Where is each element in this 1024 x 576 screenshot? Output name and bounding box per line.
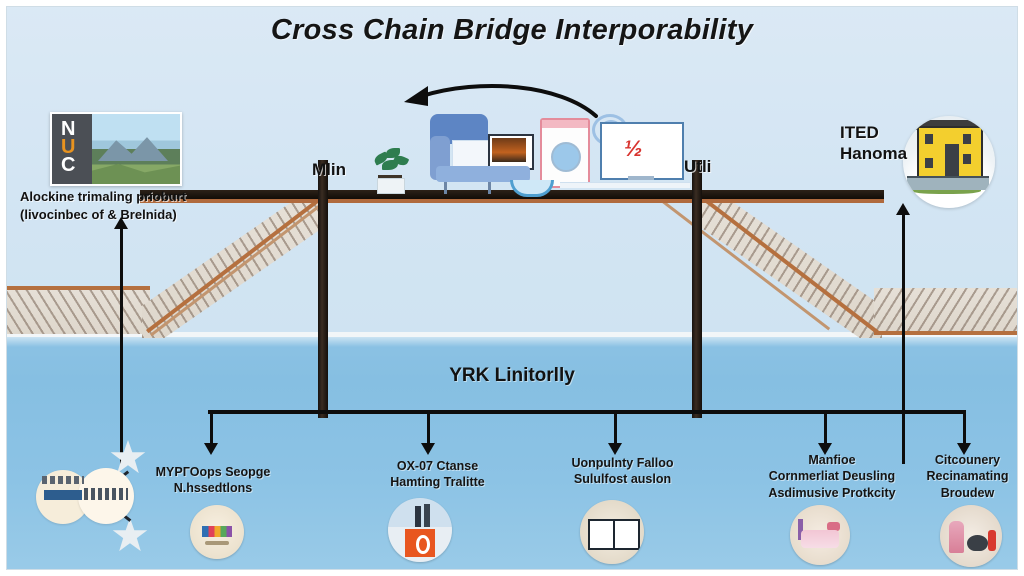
item-4-line-1: Manfioe (742, 452, 922, 468)
water-sheen (0, 337, 1024, 347)
page-title: Cross Chain Bridge Interporability (0, 14, 1024, 47)
left-callout-arrow (120, 228, 123, 464)
cluster-bar (44, 490, 82, 500)
list-item[interactable]: Uonpulnty Falloo Sululfost auslon (540, 455, 705, 488)
sofa-tv-icon (430, 114, 530, 188)
item-2-line-2: Hamting Tralitte (355, 474, 520, 490)
desk-surface (560, 182, 690, 188)
cluster-text-lines (42, 476, 84, 484)
left-flat-surface-line (0, 286, 150, 290)
left-approach-flat (0, 288, 150, 334)
list-item[interactable]: OX-07 Ctanse Hamting Tralitte (355, 458, 520, 491)
item-4-line-2: Cornmerliat Deusling (742, 468, 922, 484)
shop-scene-icon (940, 505, 1002, 567)
right-flat-surface-line (874, 331, 1024, 335)
item-4-line-3: Asdimusive Protkcity (742, 485, 922, 501)
item-3-line-1: Uonpulnty Falloo (540, 455, 705, 471)
item-2-line-1: OX-07 Ctanse (355, 458, 520, 474)
landscape-photo (92, 114, 180, 184)
monitor-mark-label: ½ (624, 136, 642, 162)
right-callout-arrow (902, 214, 905, 464)
bridge-deck-edge (140, 199, 884, 203)
item-1-line-2: N.hssedtlons (138, 480, 288, 496)
monitor-icon: ½ (600, 122, 684, 180)
branch-arrow-4 (824, 410, 827, 444)
diagram-canvas: Cross Chain Bridge Interporability Mlin … (0, 0, 1024, 576)
monitor-stand (628, 176, 654, 180)
left-photo-card: C (50, 112, 182, 186)
orange-box-icon (388, 498, 452, 562)
item-5-line-3: Broudew (915, 485, 1020, 501)
left-caption-line1: Alockine trimaling prioburt (20, 188, 230, 206)
home-interior-icon (790, 505, 850, 565)
water-section-label: YRK Linitorlly (0, 365, 1024, 387)
marketing-circle-icon (190, 505, 244, 559)
right-approach-flat (874, 288, 1024, 334)
right-caption: ITED Hanoma (840, 122, 960, 165)
branch-arrow-2 (427, 410, 430, 444)
star-node-icon (112, 518, 148, 554)
decorative-node-cluster (28, 440, 153, 560)
item-5-line-2: Recinamating (915, 468, 1020, 484)
pier-label-left: Mlin (312, 160, 346, 180)
right-caption-line2: Hanoma (840, 143, 960, 164)
item-3-line-2: Sululfost auslon (540, 471, 705, 487)
branch-arrow-3 (614, 410, 617, 444)
open-book-icon (580, 500, 644, 564)
potted-plant-icon (368, 148, 412, 194)
distribution-bus (208, 410, 966, 414)
curved-left-arrow-icon (400, 80, 600, 120)
right-caption-line1: ITED (840, 122, 960, 143)
list-item[interactable]: MYPГOops Seopge N.hssedtlons (138, 464, 288, 497)
list-item[interactable]: Citcounery Recinamating Broudew (915, 452, 1020, 501)
nuc-logo-icon: C (52, 114, 92, 184)
cluster-text-lines (84, 488, 128, 500)
branch-arrow-1 (210, 410, 213, 444)
item-1-line-1: MYPГOops Seopge (138, 464, 288, 480)
item-5-line-1: Citcounery (915, 452, 1020, 468)
branch-arrow-5 (963, 410, 966, 444)
list-item[interactable]: Manfioe Cornmerliat Deusling Asdimusive … (742, 452, 922, 501)
